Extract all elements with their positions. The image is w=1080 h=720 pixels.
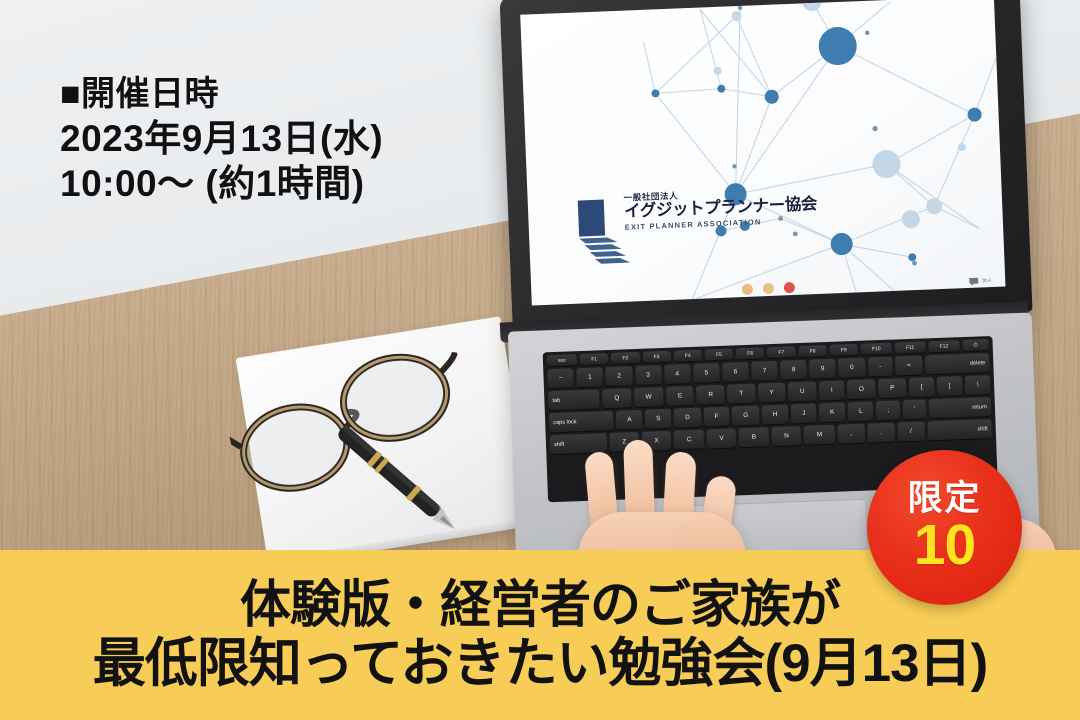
- key-quote[interactable]: ': [903, 399, 927, 419]
- key-v[interactable]: V: [707, 428, 737, 448]
- limited-seats-badge: 限定 10: [867, 450, 1022, 605]
- key-t[interactable]: T: [727, 384, 755, 404]
- laptop-dock[interactable]: [742, 282, 795, 295]
- key-i[interactable]: I: [819, 380, 845, 400]
- chat-bubble-icon: [969, 278, 978, 286]
- key-9[interactable]: 9: [809, 359, 836, 379]
- key-b[interactable]: B: [739, 427, 769, 447]
- key-shift-right[interactable]: shift: [927, 419, 992, 440]
- laptop-screen: 一般社団法人 イグジットプランナー協会 EXIT PLANNER ASSOCIA…: [520, 0, 1005, 306]
- key-esc[interactable]: esc: [547, 354, 578, 366]
- key-n[interactable]: N: [771, 426, 801, 446]
- key-c[interactable]: C: [674, 430, 704, 450]
- tray-glyphs: ⌘⏎: [982, 278, 991, 284]
- key-q[interactable]: Q: [602, 388, 631, 408]
- badge-number: 10: [914, 518, 975, 574]
- key-tilde[interactable]: ~: [547, 368, 574, 388]
- logo-text-block: 一般社団法人 イグジットプランナー協会 EXIT PLANNER ASSOCIA…: [623, 187, 796, 232]
- key-f4[interactable]: F4: [673, 350, 702, 362]
- key-f10[interactable]: F10: [861, 343, 892, 355]
- event-info-date: 2023年9月13日(水): [60, 116, 383, 162]
- dock-status-tray: ⌘⏎: [969, 277, 992, 286]
- event-info-overlay: ■開催日時 2023年9月13日(水) 10:00〜 (約1時間): [60, 74, 383, 207]
- key-w[interactable]: W: [634, 387, 664, 407]
- key-power[interactable]: ⏻: [962, 339, 989, 351]
- key-s[interactable]: S: [645, 409, 672, 429]
- key-minus[interactable]: -: [868, 357, 893, 377]
- banner-title-line-1: 体験版・経営者のご家族が: [240, 576, 840, 634]
- dock-icon-tan-1[interactable]: [742, 284, 753, 295]
- key-h[interactable]: H: [762, 404, 789, 424]
- dock-icon-tan-2[interactable]: [763, 283, 774, 294]
- key-p[interactable]: P: [878, 378, 906, 398]
- key-e[interactable]: E: [666, 386, 694, 406]
- key-a[interactable]: A: [616, 410, 643, 430]
- promotional-banner-image: 一般社団法人 イグジットプランナー協会 EXIT PLANNER ASSOCIA…: [0, 0, 1080, 720]
- key-return[interactable]: return: [928, 397, 991, 418]
- fountain-pen-icon: [305, 412, 481, 540]
- key-g[interactable]: G: [732, 406, 759, 426]
- key-tab[interactable]: tab: [548, 389, 600, 410]
- key-f8[interactable]: F8: [798, 345, 827, 357]
- key-u[interactable]: U: [788, 381, 817, 401]
- key-slash[interactable]: /: [897, 421, 925, 441]
- key-f1[interactable]: F1: [580, 353, 609, 365]
- key-bracket-left[interactable]: [: [909, 377, 935, 397]
- key-backslash[interactable]: \: [965, 375, 991, 395]
- key-caps-lock[interactable]: caps lock: [549, 411, 614, 432]
- key-7[interactable]: 7: [751, 361, 778, 381]
- event-info-time: 10:00〜 (約1時間): [60, 161, 383, 207]
- laptop-lid: 一般社団法人 イグジットプランナー協会 EXIT PLANNER ASSOCIA…: [499, 0, 1032, 332]
- key-j[interactable]: J: [791, 403, 817, 423]
- key-o[interactable]: O: [847, 379, 876, 399]
- key-equals[interactable]: =: [895, 356, 922, 376]
- key-5[interactable]: 5: [693, 363, 720, 383]
- key-4[interactable]: 4: [664, 364, 691, 384]
- key-f12[interactable]: F12: [928, 340, 959, 352]
- key-3[interactable]: 3: [635, 365, 662, 385]
- key-6[interactable]: 6: [722, 362, 749, 382]
- key-f7[interactable]: F7: [767, 346, 796, 358]
- key-y[interactable]: Y: [757, 383, 785, 403]
- event-info-heading: ■開催日時: [60, 74, 383, 116]
- key-f5[interactable]: F5: [705, 348, 734, 360]
- key-comma[interactable]: ,: [837, 424, 865, 444]
- key-f2[interactable]: F2: [611, 352, 640, 364]
- key-r[interactable]: R: [696, 385, 725, 405]
- key-f9[interactable]: F9: [829, 344, 858, 356]
- key-period[interactable]: .: [867, 423, 895, 443]
- key-f[interactable]: F: [703, 407, 729, 427]
- key-m[interactable]: M: [804, 425, 835, 445]
- key-l[interactable]: L: [848, 401, 874, 421]
- key-semicolon[interactable]: ;: [876, 400, 900, 420]
- badge-label: 限定: [907, 481, 981, 516]
- dock-icon-red[interactable]: [784, 282, 795, 293]
- key-d[interactable]: D: [674, 408, 701, 428]
- key-f6[interactable]: F6: [736, 347, 765, 359]
- key-8[interactable]: 8: [780, 360, 807, 380]
- key-delete[interactable]: delete: [925, 353, 990, 374]
- key-bracket-right[interactable]: ]: [937, 376, 963, 396]
- banner-title-line-2: 最低限知っておきたい勉強会(9月13日): [93, 634, 988, 694]
- key-0[interactable]: 0: [838, 358, 865, 378]
- key-1[interactable]: 1: [577, 367, 604, 387]
- key-k[interactable]: K: [819, 402, 846, 422]
- key-shift-left[interactable]: shift: [550, 433, 608, 454]
- key-2[interactable]: 2: [606, 366, 633, 386]
- key-f11[interactable]: F11: [895, 341, 926, 353]
- exit-planner-association-logo: 一般社団法人 イグジットプランナー協会 EXIT PLANNER ASSOCIA…: [576, 187, 789, 269]
- key-f3[interactable]: F3: [642, 351, 671, 363]
